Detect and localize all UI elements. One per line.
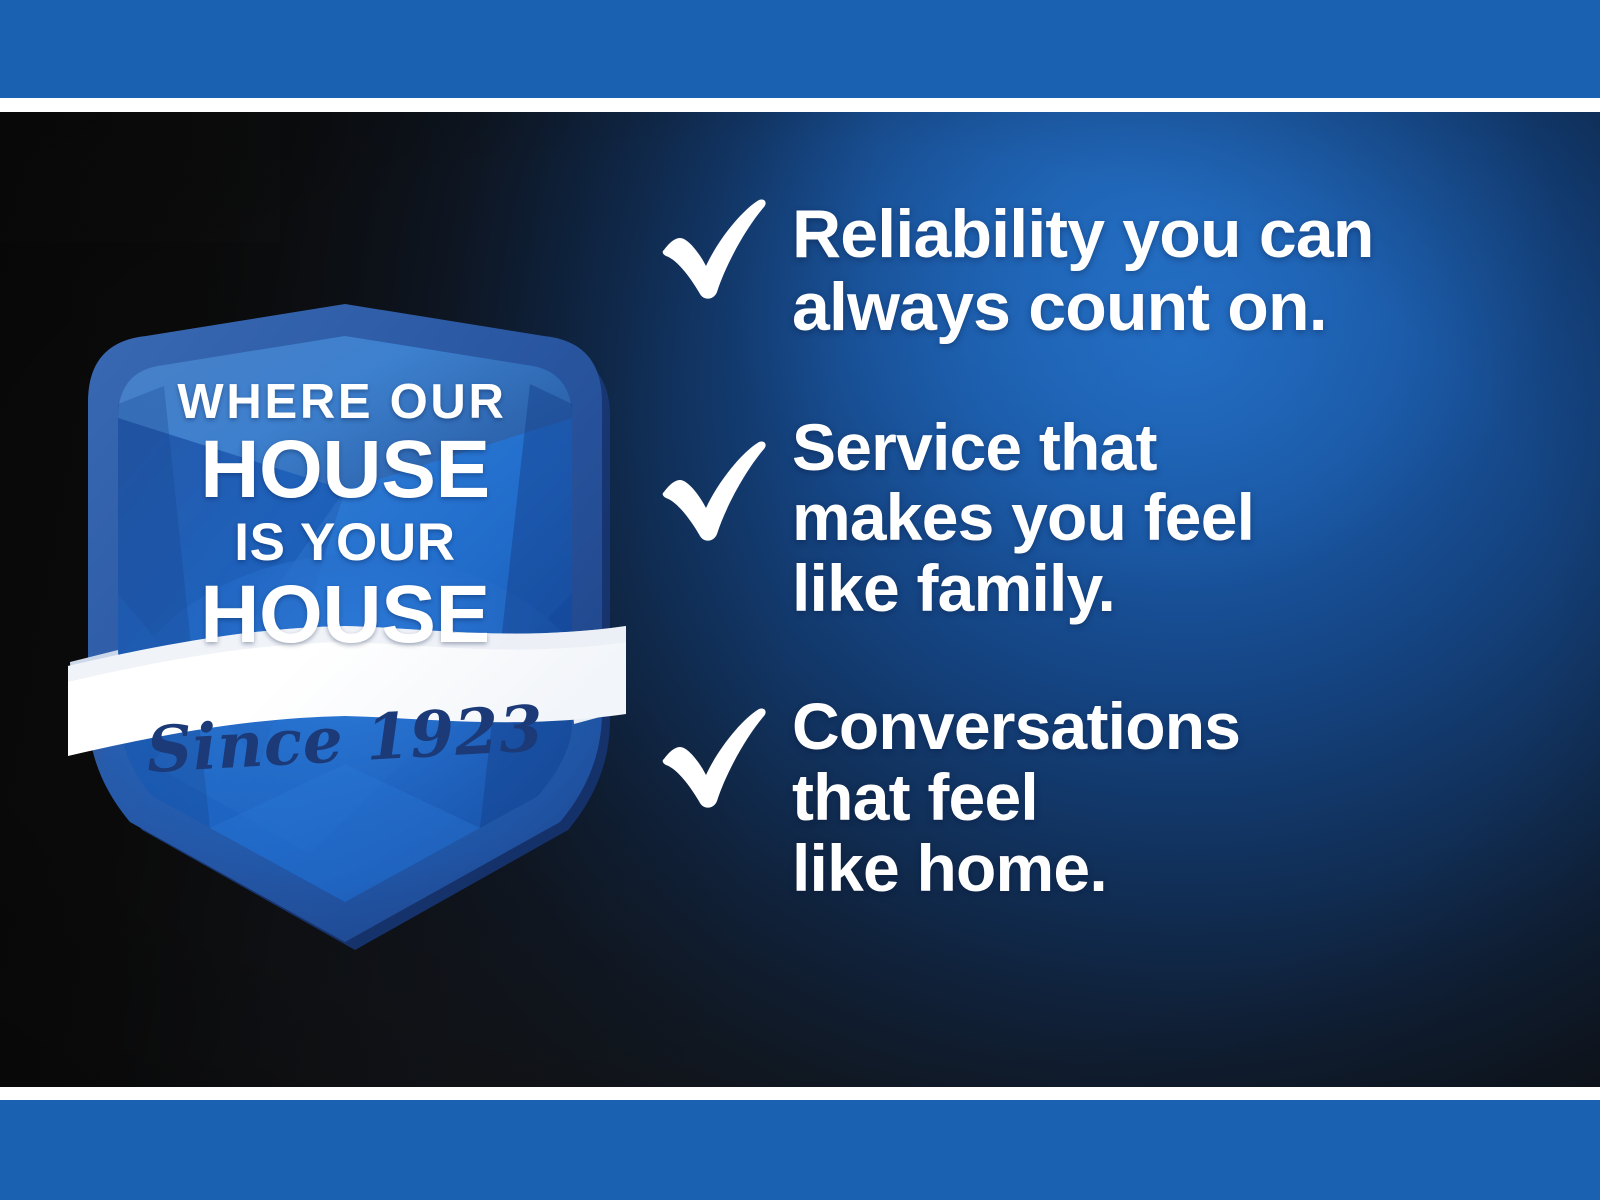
- logo-shield: WHERE OUR HOUSE IS YOUR HOUSE Since 1923: [60, 294, 630, 954]
- list-item: Reliability you can always count on.: [660, 192, 1540, 344]
- check-icon: [660, 406, 792, 544]
- check-icon: [660, 192, 792, 302]
- list-item: Service that makes you feel like family.: [660, 406, 1540, 624]
- benefits-list: Reliability you can always count on. Ser…: [660, 192, 1540, 903]
- list-item-text: Service that makes you feel like family.: [792, 406, 1254, 624]
- marketing-graphic: WHERE OUR HOUSE IS YOUR HOUSE Since 1923…: [0, 0, 1600, 1200]
- top-brand-bar: [0, 0, 1600, 98]
- bottom-white-divider: [0, 1087, 1600, 1100]
- list-item-text: Reliability you can always count on.: [792, 192, 1374, 344]
- top-white-divider: [0, 98, 1600, 112]
- list-item: Conversations that feel like home.: [660, 685, 1540, 903]
- bottom-brand-bar: [0, 1100, 1600, 1200]
- list-item-text: Conversations that feel like home.: [792, 685, 1240, 903]
- check-icon: [660, 685, 792, 811]
- main-panel: WHERE OUR HOUSE IS YOUR HOUSE Since 1923…: [0, 112, 1600, 1087]
